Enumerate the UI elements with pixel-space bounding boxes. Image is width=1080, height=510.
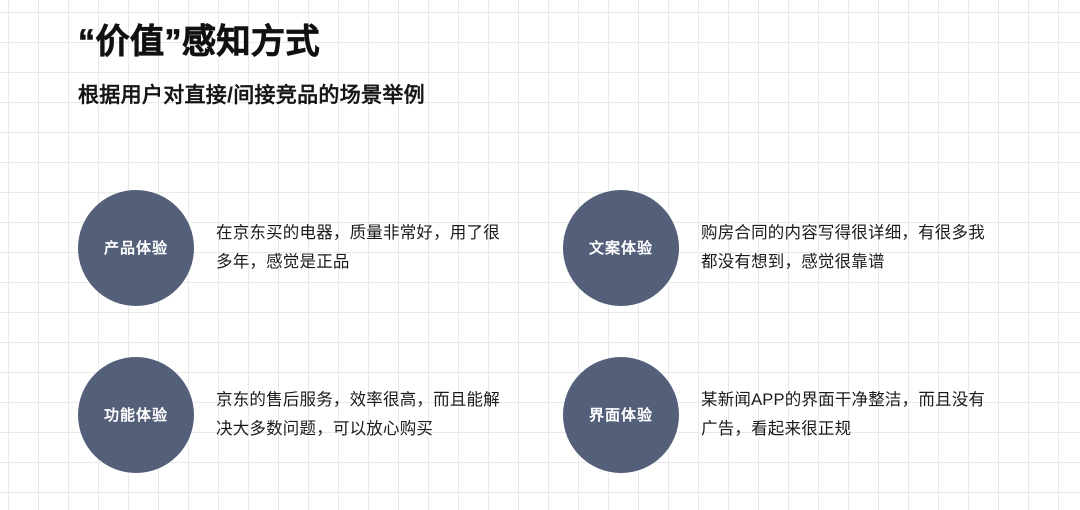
description-function: 京东的售后服务，效率很高，而且能解决大多数问题，可以放心购买	[216, 386, 506, 444]
bubble-function: 功能体验	[78, 357, 194, 473]
slide-canvas: “价值”感知方式 根据用户对直接/间接竞品的场景举例 产品体验 在京东买的电器，…	[0, 0, 1080, 510]
experience-item-interface: 界面体验 某新闻APP的界面干净整洁，而且没有广告，看起来很正规	[563, 357, 991, 473]
experience-item-product: 产品体验 在京东买的电器，质量非常好，用了很多年，感觉是正品	[78, 190, 506, 306]
bubble-label-product: 产品体验	[104, 241, 168, 256]
experience-item-function: 功能体验 京东的售后服务，效率很高，而且能解决大多数问题，可以放心购买	[78, 357, 506, 473]
bubble-label-function: 功能体验	[104, 408, 168, 423]
experience-item-copywriting: 文案体验 购房合同的内容写得很详细，有很多我都没有想到，感觉很靠谱	[563, 190, 991, 306]
description-interface: 某新闻APP的界面干净整洁，而且没有广告，看起来很正规	[701, 386, 991, 444]
bubble-label-copywriting: 文案体验	[589, 241, 653, 256]
bubble-product: 产品体验	[78, 190, 194, 306]
description-copywriting: 购房合同的内容写得很详细，有很多我都没有想到，感觉很靠谱	[701, 219, 991, 277]
description-product: 在京东买的电器，质量非常好，用了很多年，感觉是正品	[216, 219, 506, 277]
experience-item-grid: 产品体验 在京东买的电器，质量非常好，用了很多年，感觉是正品 文案体验 购房合同…	[0, 0, 1080, 510]
bubble-interface: 界面体验	[563, 357, 679, 473]
bubble-label-interface: 界面体验	[589, 408, 653, 423]
bubble-copywriting: 文案体验	[563, 190, 679, 306]
